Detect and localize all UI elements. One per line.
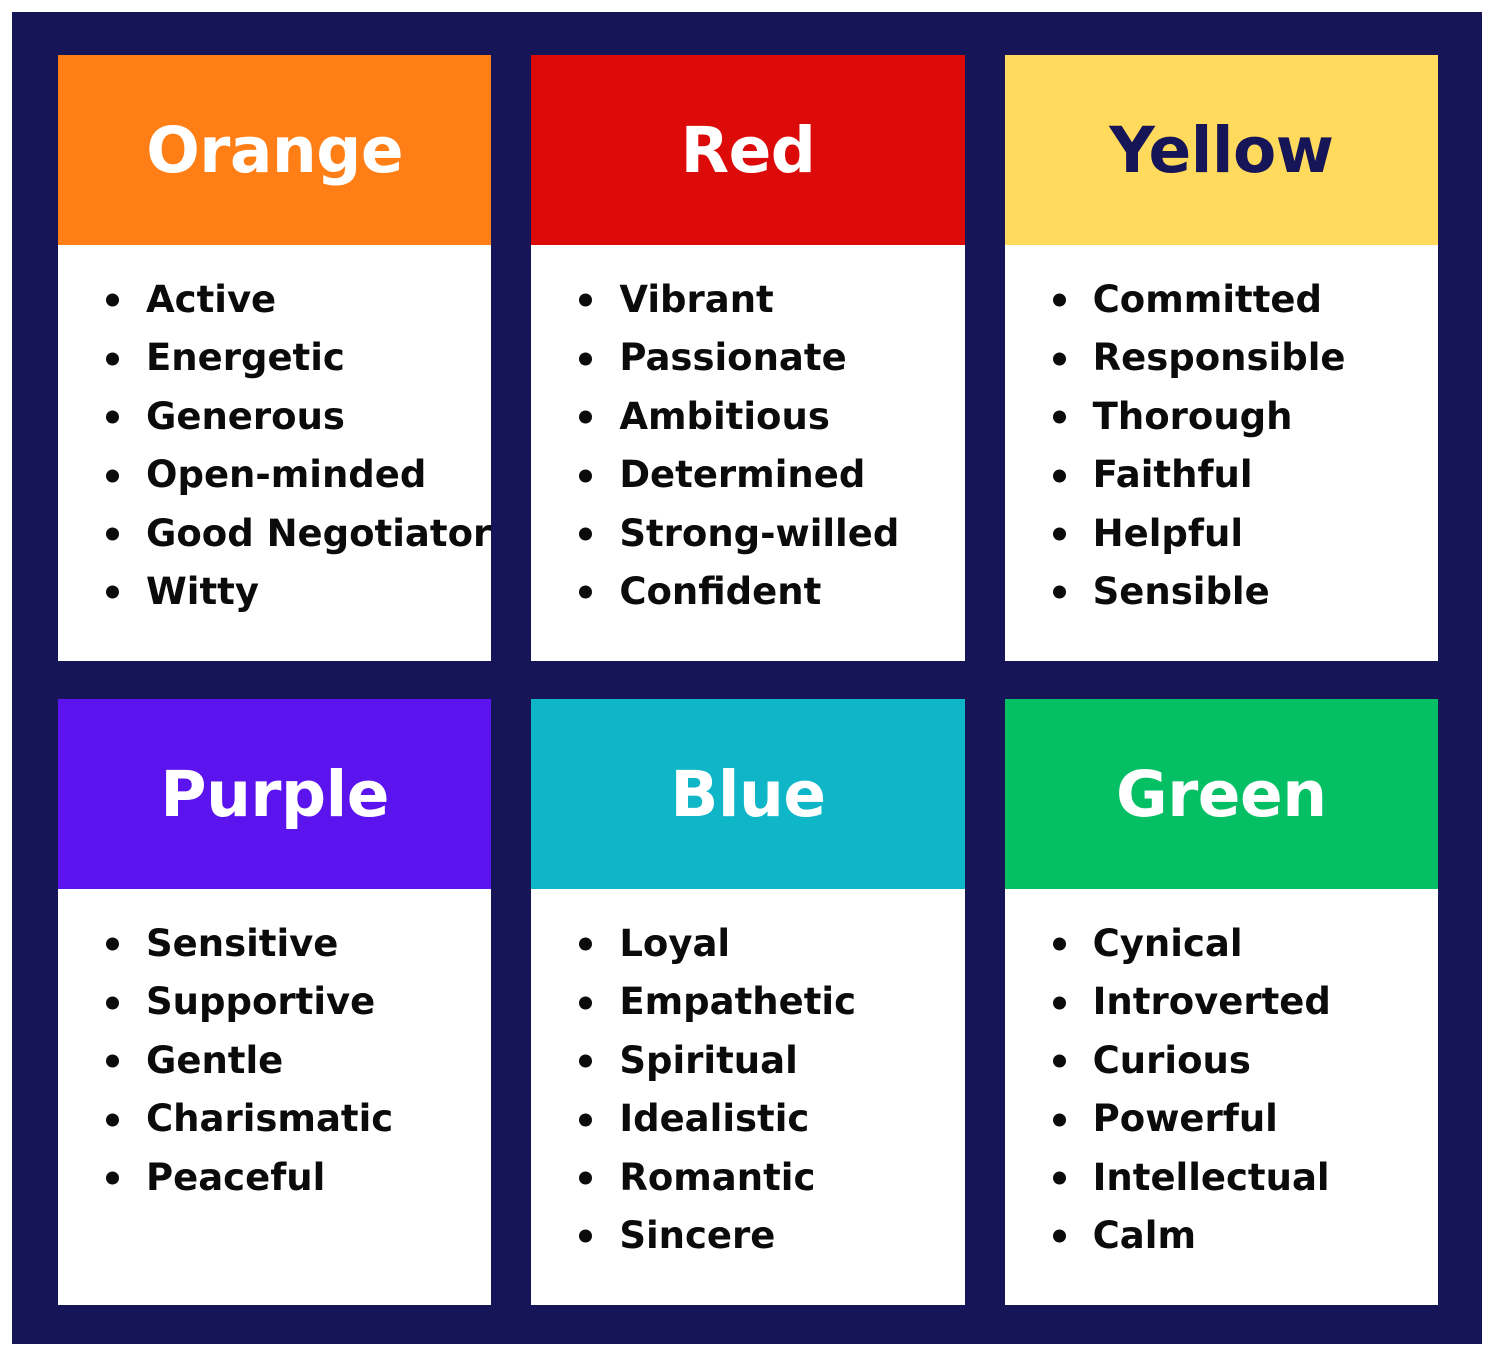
card-title: Red (681, 119, 816, 182)
trait-label: Cynical (1093, 922, 1243, 965)
bullet-dot-icon (579, 469, 592, 482)
trait-label: Intellectual (1093, 1156, 1330, 1199)
trait-list-item: Cynical (1015, 915, 1428, 973)
trait-label: Supportive (146, 980, 375, 1023)
bullet-dot-icon (1053, 1230, 1066, 1243)
trait-label: Spiritual (619, 1039, 797, 1082)
bullet-dot-icon (106, 294, 119, 307)
card-header-red: Red (531, 55, 964, 245)
card-header-orange: Orange (58, 55, 491, 245)
card-body-red: VibrantPassionateAmbitiousDeterminedStro… (531, 245, 964, 661)
trait-list-item: Supportive (68, 973, 481, 1031)
color-personality-card-grid: OrangeActiveEnergeticGenerousOpen-minded… (58, 55, 1438, 1305)
trait-list-item: Sincere (541, 1207, 954, 1265)
trait-label: Witty (146, 570, 259, 613)
trait-list-item: Spiritual (541, 1032, 954, 1090)
trait-label: Energetic (146, 336, 345, 379)
trait-list-item: Faithful (1015, 446, 1428, 504)
bullet-dot-icon (1053, 1172, 1066, 1185)
trait-list-item: Idealistic (541, 1090, 954, 1148)
bullet-dot-icon (1053, 1055, 1066, 1068)
bullet-dot-icon (579, 996, 592, 1009)
color-card-red: RedVibrantPassionateAmbitiousDeterminedS… (531, 55, 964, 661)
trait-list-item: Committed (1015, 271, 1428, 329)
trait-list-item: Empathetic (541, 973, 954, 1031)
trait-list-item: Generous (68, 388, 481, 446)
trait-label: Committed (1093, 278, 1322, 321)
trait-label: Responsible (1093, 336, 1346, 379)
card-body-orange: ActiveEnergeticGenerousOpen-mindedGood N… (58, 245, 491, 661)
trait-label: Strong-willed (619, 512, 899, 555)
bullet-dot-icon (1053, 586, 1066, 599)
trait-list: CommittedResponsibleThoroughFaithfulHelp… (1015, 271, 1428, 622)
trait-list-item: Curious (1015, 1032, 1428, 1090)
card-body-blue: LoyalEmpatheticSpiritualIdealisticRomant… (531, 889, 964, 1305)
trait-list-item: Passionate (541, 329, 954, 387)
trait-list-item: Vibrant (541, 271, 954, 329)
bullet-dot-icon (579, 1113, 592, 1126)
trait-label: Thorough (1093, 395, 1293, 438)
trait-label: Determined (619, 453, 865, 496)
bullet-dot-icon (106, 1055, 119, 1068)
trait-label: Calm (1093, 1214, 1196, 1257)
trait-list: CynicalIntrovertedCuriousPowerfulIntelle… (1015, 915, 1428, 1266)
bullet-dot-icon (1053, 938, 1066, 951)
trait-list-item: Energetic (68, 329, 481, 387)
card-title: Purple (160, 763, 389, 826)
trait-list-item: Thorough (1015, 388, 1428, 446)
trait-list-item: Introverted (1015, 973, 1428, 1031)
bullet-dot-icon (106, 996, 119, 1009)
trait-label: Helpful (1093, 512, 1243, 555)
trait-label: Powerful (1093, 1097, 1278, 1140)
card-body-purple: SensitiveSupportiveGentleCharismaticPeac… (58, 889, 491, 1305)
trait-list-item: Determined (541, 446, 954, 504)
bullet-dot-icon (106, 586, 119, 599)
trait-list-item: Loyal (541, 915, 954, 973)
card-header-yellow: Yellow (1005, 55, 1438, 245)
trait-label: Good Negotiator (146, 512, 491, 555)
trait-label: Vibrant (619, 278, 773, 321)
bullet-dot-icon (1053, 996, 1066, 1009)
card-title: Yellow (1109, 119, 1333, 182)
bullet-dot-icon (106, 1172, 119, 1185)
trait-list-item: Intellectual (1015, 1149, 1428, 1207)
trait-label: Sincere (619, 1214, 775, 1257)
bullet-dot-icon (106, 411, 119, 424)
bullet-dot-icon (1053, 528, 1066, 541)
trait-list-item: Strong-willed (541, 505, 954, 563)
trait-label: Curious (1093, 1039, 1251, 1082)
poster-background: OrangeActiveEnergeticGenerousOpen-minded… (12, 12, 1482, 1344)
trait-label: Charismatic (146, 1097, 393, 1140)
color-card-yellow: YellowCommittedResponsibleThoroughFaithf… (1005, 55, 1438, 661)
trait-list-item: Responsible (1015, 329, 1428, 387)
bullet-dot-icon (106, 469, 119, 482)
card-header-purple: Purple (58, 699, 491, 889)
bullet-dot-icon (579, 352, 592, 365)
bullet-dot-icon (1053, 352, 1066, 365)
trait-label: Sensible (1093, 570, 1270, 613)
trait-list: LoyalEmpatheticSpiritualIdealisticRomant… (541, 915, 954, 1266)
trait-label: Sensitive (146, 922, 338, 965)
card-title: Blue (670, 763, 825, 826)
trait-label: Gentle (146, 1039, 283, 1082)
color-card-orange: OrangeActiveEnergeticGenerousOpen-minded… (58, 55, 491, 661)
bullet-dot-icon (579, 938, 592, 951)
card-header-green: Green (1005, 699, 1438, 889)
trait-label: Confident (619, 570, 821, 613)
card-body-green: CynicalIntrovertedCuriousPowerfulIntelle… (1005, 889, 1438, 1305)
trait-label: Romantic (619, 1156, 815, 1199)
trait-label: Empathetic (619, 980, 856, 1023)
bullet-dot-icon (1053, 1113, 1066, 1126)
card-body-yellow: CommittedResponsibleThoroughFaithfulHelp… (1005, 245, 1438, 661)
trait-list-item: Peaceful (68, 1149, 481, 1207)
color-card-purple: PurpleSensitiveSupportiveGentleCharismat… (58, 699, 491, 1305)
trait-list-item: Helpful (1015, 505, 1428, 563)
trait-label: Introverted (1093, 980, 1331, 1023)
card-title: Green (1116, 763, 1327, 826)
trait-label: Loyal (619, 922, 730, 965)
trait-list-item: Romantic (541, 1149, 954, 1207)
trait-list-item: Calm (1015, 1207, 1428, 1265)
bullet-dot-icon (106, 352, 119, 365)
bullet-dot-icon (106, 1113, 119, 1126)
card-header-blue: Blue (531, 699, 964, 889)
trait-label: Generous (146, 395, 345, 438)
trait-list-item: Confident (541, 563, 954, 621)
trait-list-item: Active (68, 271, 481, 329)
trait-list-item: Witty (68, 563, 481, 621)
bullet-dot-icon (106, 938, 119, 951)
bullet-dot-icon (579, 1230, 592, 1243)
bullet-dot-icon (579, 1172, 592, 1185)
trait-list-item: Powerful (1015, 1090, 1428, 1148)
bullet-dot-icon (579, 1055, 592, 1068)
bullet-dot-icon (106, 528, 119, 541)
bullet-dot-icon (579, 528, 592, 541)
trait-label: Passionate (619, 336, 846, 379)
trait-list-item: Open-minded (68, 446, 481, 504)
color-card-green: GreenCynicalIntrovertedCuriousPowerfulIn… (1005, 699, 1438, 1305)
trait-list-item: Sensible (1015, 563, 1428, 621)
trait-label: Active (146, 278, 276, 321)
bullet-dot-icon (1053, 411, 1066, 424)
bullet-dot-icon (579, 294, 592, 307)
trait-list: SensitiveSupportiveGentleCharismaticPeac… (68, 915, 481, 1207)
bullet-dot-icon (1053, 469, 1066, 482)
trait-label: Ambitious (619, 395, 830, 438)
trait-list: ActiveEnergeticGenerousOpen-mindedGood N… (68, 271, 481, 622)
trait-label: Idealistic (619, 1097, 809, 1140)
trait-label: Open-minded (146, 453, 426, 496)
trait-list-item: Gentle (68, 1032, 481, 1090)
trait-list: VibrantPassionateAmbitiousDeterminedStro… (541, 271, 954, 622)
trait-list-item: Ambitious (541, 388, 954, 446)
trait-label: Peaceful (146, 1156, 325, 1199)
trait-label: Faithful (1093, 453, 1253, 496)
trait-list-item: Good Negotiator (68, 505, 481, 563)
bullet-dot-icon (1053, 294, 1066, 307)
trait-list-item: Sensitive (68, 915, 481, 973)
color-card-blue: BlueLoyalEmpatheticSpiritualIdealisticRo… (531, 699, 964, 1305)
bullet-dot-icon (579, 411, 592, 424)
trait-list-item: Charismatic (68, 1090, 481, 1148)
card-title: Orange (146, 119, 403, 182)
bullet-dot-icon (579, 586, 592, 599)
